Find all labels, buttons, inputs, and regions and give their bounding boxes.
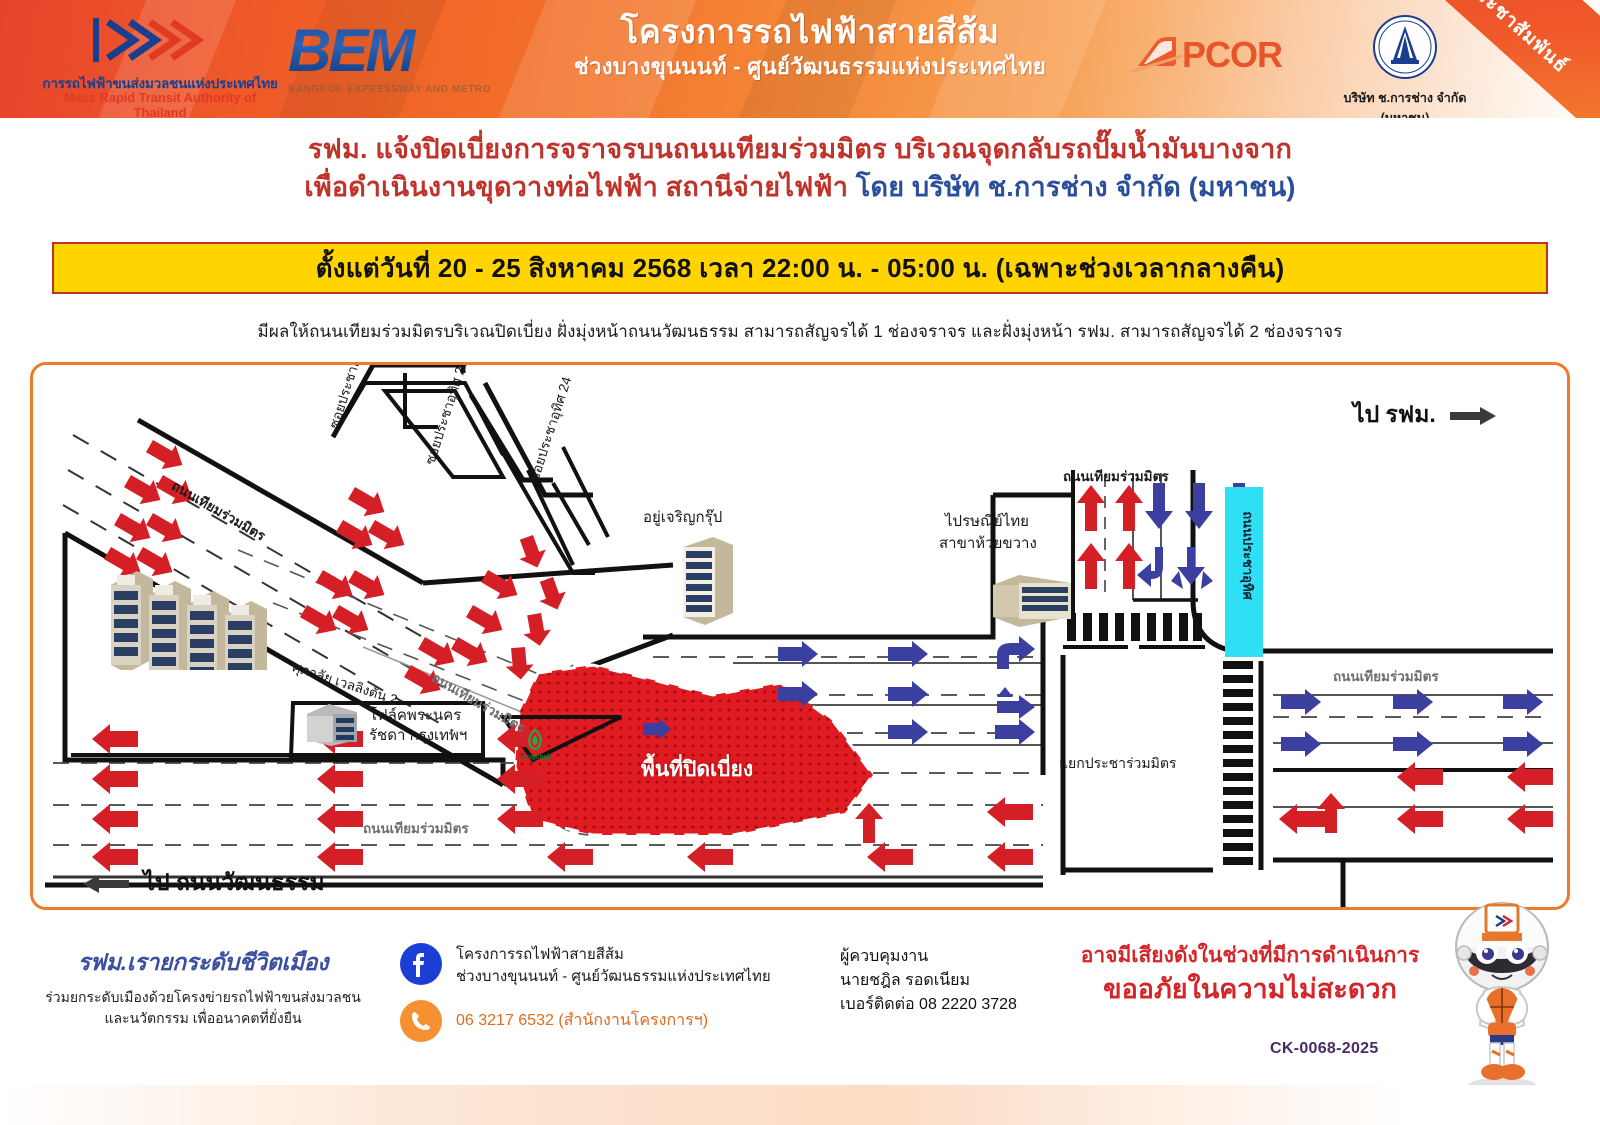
phone-glyph-icon bbox=[410, 1010, 432, 1032]
project-title-line2: ช่วงบางขุนนนท์ - ศูนย์วัฒนธรรมแห่งประเทศ… bbox=[500, 52, 1120, 82]
mrta-mascot bbox=[1432, 895, 1572, 1095]
supervisor-label: ผู้ควบคุมงาน bbox=[840, 945, 1017, 969]
red-arrow-right-section bbox=[1279, 762, 1553, 834]
notice-title-line1: รฟม. แจ้งปิดเบี่ยงการจราจรบนถนนเทียมร่วม… bbox=[0, 130, 1600, 168]
mrta-slogan: รฟม.เรายกระดับชีวิตเมือง ร่วมยกระดับเมือ… bbox=[38, 945, 368, 1029]
bem-logo-text: BEM bbox=[288, 20, 503, 82]
place-label-yoo-charoen-group: อยู่เจริญกรุ๊ป bbox=[643, 505, 722, 529]
direction-to-wattanatham-text: ไป ถนนวัฒนธรรม bbox=[143, 869, 324, 895]
supervisor-block: ผู้ควบคุมงาน นายชฎิล รอดเนียม เบอร์ติดต่… bbox=[840, 945, 1017, 1017]
volk-phranakorn-building bbox=[303, 700, 361, 748]
apology-line2: ขออภัยในความไม่สะดวก bbox=[1050, 971, 1450, 1007]
date-time-banner-text: ตั้งแต่วันที่ 20 - 25 สิงหาคม 2568 เวลา … bbox=[316, 248, 1285, 289]
project-phone-number: 06 3217 6532 (สำนักงานโครงการฯ) bbox=[456, 1000, 708, 1032]
bem-logo: BEM BANGKOK EXPRESSWAY AND METRO bbox=[288, 20, 503, 106]
notice-title-line2-blue: โดย บริษัท ช.การช่าง จำกัด (มหาชน) bbox=[856, 172, 1296, 202]
facebook-page-line2: ช่วงบางขุนนนท์ - ศูนย์วัฒนธรรมแห่งประเทศ… bbox=[456, 966, 771, 988]
arrow-right-icon bbox=[1450, 407, 1496, 425]
traffic-diversion-map: ถนนประชาอุทิศ bbox=[30, 362, 1570, 910]
supervisor-phone: เบอร์ติดต่อ 08 2220 3728 bbox=[840, 993, 1017, 1017]
mrta-chevron-icon bbox=[90, 14, 230, 66]
pcor-logo-text: PCOR bbox=[1182, 34, 1282, 76]
thailand-post-building bbox=[993, 573, 1073, 631]
notice-title-line2-red: เพื่อดำเนินงานขุดวางท่อไฟฟ้า สถานีจ่ายไฟ… bbox=[304, 172, 855, 202]
notice-title: รฟม. แจ้งปิดเบี่ยงการจราจรบนถนนเทียมร่วม… bbox=[0, 130, 1600, 206]
mrta-logo-english: Mass Rapid Transit Authority of Thailand bbox=[40, 90, 280, 118]
bangchak-leaf-icon bbox=[524, 729, 546, 751]
ck-logo-name: บริษัท ช.การช่าง จำกัด (มหาชน) bbox=[1340, 88, 1470, 118]
footer-gradient-bar bbox=[0, 1085, 1600, 1125]
lane-impact-note: มีผลให้ถนนเทียมร่วมมิตรบริเวณปิดเบี่ยง ฝ… bbox=[0, 318, 1600, 345]
road-label-teamruammit-4: ถนนเทียมร่วมมิตร bbox=[1063, 465, 1169, 487]
yoo-charoen-group-building bbox=[683, 533, 739, 627]
bem-logo-subtitle: BANGKOK EXPRESSWAY AND METRO bbox=[288, 84, 503, 95]
red-arrow-up bbox=[1077, 485, 1143, 589]
facebook-row[interactable]: โครงการรถไฟฟ้าสายสีส้ม ช่วงบางขุนนนท์ - … bbox=[400, 943, 820, 988]
place-label-pracha-ruam-mit-junction: แยกประชาร่วมมิตร bbox=[1059, 753, 1176, 775]
facebook-page-line1: โครงการรถไฟฟ้าสายสีส้ม bbox=[456, 944, 771, 966]
mrta-slogan-sub2: และนวัตกรรม เพื่ออนาคตที่ยั่งยืน bbox=[38, 1008, 368, 1029]
bangchak-logo-text: bangchak bbox=[515, 754, 555, 761]
facebook-icon[interactable] bbox=[400, 943, 442, 985]
date-time-banner: ตั้งแต่วันที่ 20 - 25 สิงหาคม 2568 เวลา … bbox=[52, 242, 1548, 294]
map-canvas: ถนนประชาอุทิศ bbox=[33, 365, 1570, 910]
road-label-teamruammit-3: ถนนเทียมร่วมมิตร bbox=[363, 817, 469, 839]
pr-ribbon-text: ประชาสัมพันธ์ bbox=[1460, 0, 1575, 80]
mrta-slogan-main: รฟม.เรายกระดับชีวิตเมือง bbox=[38, 945, 368, 981]
mrta-logo-mark bbox=[90, 14, 230, 66]
facebook-glyph-icon bbox=[408, 951, 434, 977]
place-label-thailand-post-1: ไปรษณีย์ไทย bbox=[945, 509, 1029, 533]
supervisor-name: นายชฎิล รอดเนียม bbox=[840, 969, 1017, 993]
closed-area-label: พื้นที่ปิดเบี่ยง bbox=[641, 753, 753, 786]
place-label-volk-phranakorn-2: รัชดา กรุงเทพฯ bbox=[369, 723, 467, 747]
notice-title-line2: เพื่อดำเนินงานขุดวางท่อไฟฟ้า สถานีจ่ายไฟ… bbox=[0, 168, 1600, 206]
phone-icon[interactable] bbox=[400, 1000, 442, 1042]
apology-block: อาจมีเสียงดังในช่วงที่มีการดำเนินการ ขออ… bbox=[1050, 941, 1450, 1007]
poster-header: การรถไฟฟ้าขนส่งมวลชนแห่งประเทศไทย Mass R… bbox=[0, 0, 1600, 118]
direction-to-mrta-text: ไป รฟม. bbox=[1353, 401, 1436, 427]
pracha-uthit-road-band: ถนนประชาอุทิศ bbox=[1225, 487, 1263, 657]
direction-to-wattanatham: ไป ถนนวัฒนธรรม bbox=[83, 865, 325, 901]
road-label-teamruammit-5: ถนนเทียมร่วมมิตร bbox=[1333, 665, 1439, 687]
apology-line1: อาจมีเสียงดังในช่วงที่มีการดำเนินการ bbox=[1050, 941, 1450, 971]
direction-to-mrta: ไป รฟม. bbox=[1353, 397, 1496, 433]
reference-code: CK-0068-2025 bbox=[1270, 1040, 1379, 1058]
pracha-uthit-road-label: ถนนประชาอุทิศ bbox=[1238, 481, 1259, 631]
arrow-left-icon bbox=[83, 875, 129, 893]
announcement-poster: การรถไฟฟ้าขนส่งมวลชนแห่งประเทศไทย Mass R… bbox=[0, 0, 1600, 1125]
phone-row[interactable]: 06 3217 6532 (สำนักงานโครงการฯ) bbox=[400, 1000, 820, 1042]
supalai-wellington-buildings bbox=[111, 555, 301, 670]
mrta-slogan-sub1: ร่วมยกระดับเมืองด้วยโครงข่ายรถไฟฟ้าขนส่ง… bbox=[38, 987, 368, 1008]
pcor-logo: PCOR bbox=[1130, 28, 1290, 88]
project-title-line1: โครงการรถไฟฟ้าสายสีส้ม bbox=[500, 12, 1120, 52]
place-label-thailand-post-2: สาขาห้วยขวาง bbox=[939, 531, 1037, 555]
ck-logo: บริษัท ช.การช่าง จำกัด (มหาชน) bbox=[1340, 14, 1470, 114]
ck-seal-icon bbox=[1372, 14, 1438, 80]
project-title: โครงการรถไฟฟ้าสายสีส้ม ช่วงบางขุนนนท์ - … bbox=[500, 12, 1120, 82]
mrta-logo: การรถไฟฟ้าขนส่งมวลชนแห่งประเทศไทย Mass R… bbox=[40, 14, 280, 110]
contact-block: โครงการรถไฟฟ้าสายสีส้ม ช่วงบางขุนนนท์ - … bbox=[400, 943, 820, 1054]
